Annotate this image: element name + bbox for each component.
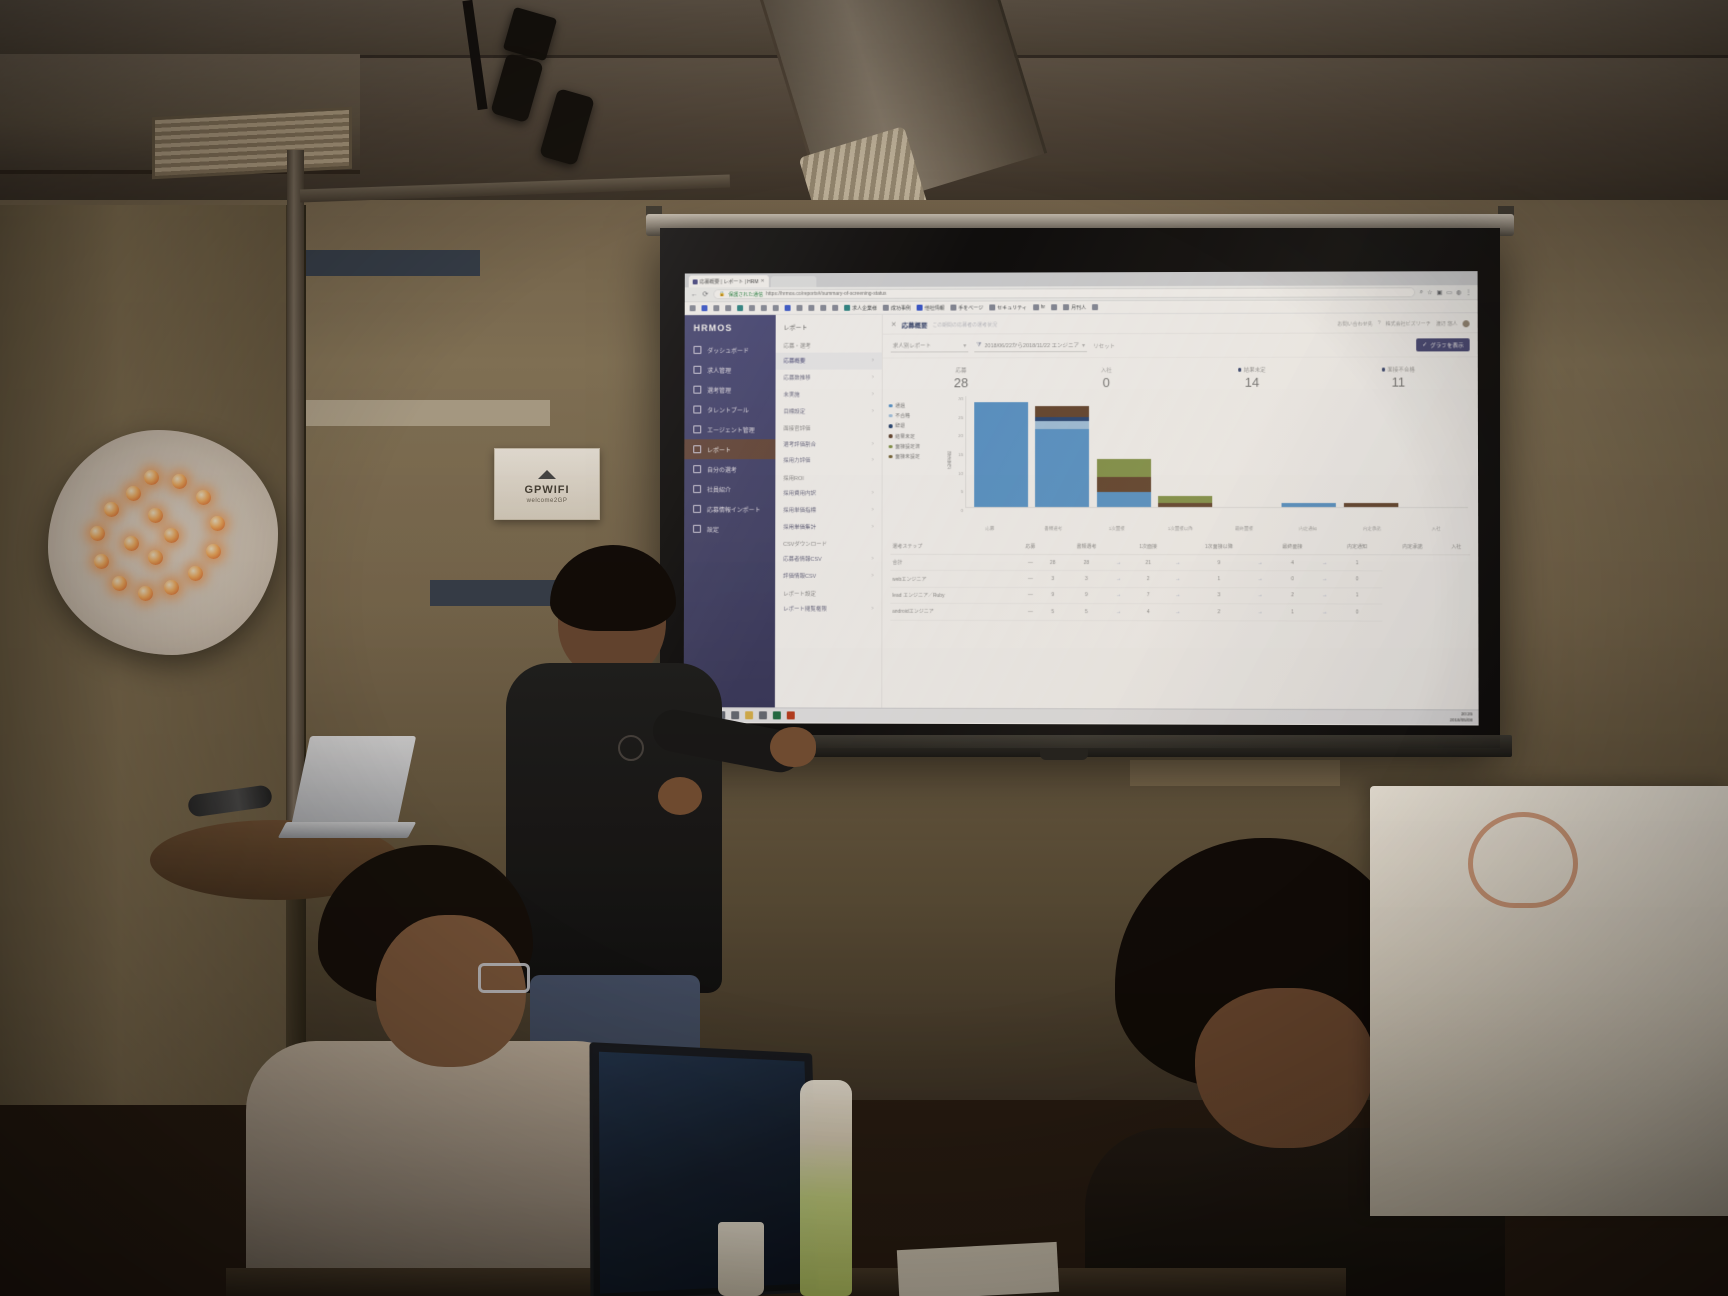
table-cell: — bbox=[1017, 587, 1044, 603]
table-cell: 28 bbox=[1061, 555, 1111, 571]
vertical-pipe bbox=[287, 150, 304, 850]
wall-accent-panel bbox=[300, 400, 550, 426]
sidebar-item-label: ダッシュボード bbox=[707, 345, 749, 354]
bar-column-2[interactable] bbox=[1097, 396, 1151, 507]
table-cell: — bbox=[1017, 604, 1044, 620]
table-cell: 28 bbox=[1044, 554, 1061, 570]
transition-arrow-icon: → bbox=[1171, 571, 1185, 587]
sidebar-item-4[interactable]: エージェント管理 bbox=[684, 419, 775, 439]
profile-icon[interactable]: ◍ bbox=[1456, 289, 1461, 296]
bookmark-item[interactable] bbox=[725, 305, 731, 311]
kpi-label-text: 結果未定 bbox=[1244, 366, 1266, 374]
column-header-2: 書類選考 bbox=[1061, 539, 1111, 555]
subnav-item-4[interactable]: 目標設定› bbox=[775, 403, 881, 420]
user-name: 渡辺 悠人 bbox=[1436, 320, 1458, 327]
kpi-value: 14 bbox=[1179, 375, 1325, 390]
check-icon: ✓ bbox=[1422, 341, 1427, 348]
table-cell: 3 bbox=[1044, 571, 1061, 587]
bookmark-item[interactable] bbox=[808, 305, 814, 311]
chevron-right-icon: › bbox=[872, 490, 874, 496]
table-cell: 2 bbox=[1267, 588, 1318, 605]
kpi-label-text: 応募 bbox=[956, 366, 967, 374]
kpi-dot-icon bbox=[1382, 368, 1386, 372]
security-label: 保護された通信 bbox=[728, 291, 763, 298]
presenter-hand-second bbox=[658, 777, 702, 815]
bookmark-favicon bbox=[785, 305, 791, 311]
back-arrow-icon[interactable]: ← bbox=[691, 291, 698, 298]
subnav-item-10[interactable]: 採用単価指標› bbox=[775, 501, 881, 518]
reset-button[interactable]: リセット bbox=[1093, 342, 1115, 350]
table-header-row: 選考ステップ応募書類選考1次面接1次面接以降最終面接内定通知内定承諾入社 bbox=[890, 539, 1470, 555]
sidebar-item-2[interactable]: 選考管理 bbox=[684, 380, 775, 400]
legend-label: 面接未設定 bbox=[895, 453, 920, 460]
table-cell: 5 bbox=[1061, 604, 1111, 620]
bookmark-favicon bbox=[761, 305, 767, 311]
presenter-laptop-base bbox=[278, 822, 417, 838]
subnav-group-label: 応募・選考 bbox=[776, 337, 882, 353]
address-bar[interactable]: 🔒 保護された通信 https://hrmos.co/reports#/summ… bbox=[713, 287, 1414, 299]
table-cell: 9 bbox=[1185, 555, 1253, 571]
kpi-dot-icon bbox=[1238, 368, 1242, 372]
show-graph-label: グラフを表示 bbox=[1430, 341, 1463, 349]
sidebar-item-0[interactable]: ダッシュボード bbox=[685, 340, 776, 360]
table-cell: — bbox=[1017, 554, 1044, 570]
y-tick: 0 bbox=[961, 508, 964, 513]
bookmark-label: セキュリティ bbox=[997, 304, 1027, 311]
chevron-right-icon: › bbox=[871, 606, 873, 612]
jacket-logo bbox=[618, 735, 644, 761]
avatar[interactable] bbox=[1463, 320, 1470, 327]
table-cell: 3 bbox=[1185, 587, 1253, 604]
legend-item-0[interactable]: 通過 bbox=[889, 402, 947, 409]
chevron-right-icon: › bbox=[872, 375, 874, 381]
browser-tab-title: 応募概要 | レポート | HRM bbox=[700, 278, 759, 285]
bar-column-7[interactable] bbox=[1405, 396, 1460, 508]
chevron-right-icon: › bbox=[872, 358, 874, 364]
transition-arrow-icon: → bbox=[1253, 588, 1267, 604]
neon-marquee-logo bbox=[48, 430, 278, 655]
chevron-down-icon: ▾ bbox=[1082, 342, 1085, 349]
table-cell: 0 bbox=[1332, 571, 1383, 588]
subnav-item-2[interactable]: 応募数推移› bbox=[776, 369, 882, 386]
kpi-value: 11 bbox=[1325, 374, 1472, 389]
kpi-card-0: 応募28 bbox=[889, 366, 1034, 390]
bookmark-item[interactable] bbox=[737, 305, 743, 311]
chevron-right-icon: › bbox=[872, 573, 874, 579]
transition-arrow-icon: → bbox=[1253, 604, 1267, 620]
screening-status-chart: 通過不合格辞退結果未定面接設定済面接未設定 応募者数 302520151050 bbox=[883, 391, 1479, 524]
sidebar-item-8[interactable]: 応募情報インポート bbox=[684, 499, 775, 519]
transition-arrow-icon: → bbox=[1318, 588, 1332, 604]
sidebar-item-label: タレントプール bbox=[707, 405, 749, 414]
subnav-group-label: 面接官評価 bbox=[775, 419, 881, 435]
kpi-value: 28 bbox=[889, 375, 1034, 390]
bookmark-favicon bbox=[749, 305, 755, 311]
sidebar-item-label: 設定 bbox=[707, 524, 719, 533]
clock-date: 2018/05/08 bbox=[1450, 717, 1473, 723]
table-cell: 4 bbox=[1267, 555, 1318, 571]
talent-pool-icon bbox=[693, 406, 701, 414]
bar-segment bbox=[1035, 429, 1089, 507]
row-label: 合計 bbox=[890, 554, 1016, 570]
wifi-ssid-label: GPWIFI bbox=[524, 484, 569, 496]
bookmark-label: hr bbox=[1041, 304, 1045, 310]
sidebar-item-label: 自分の選考 bbox=[707, 465, 737, 474]
period-filter-value: 2018/06/22から2018/11/22 エンジニア bbox=[985, 341, 1079, 349]
subnav-item-label: 採用力評価 bbox=[783, 456, 810, 464]
table-cell: 4 bbox=[1126, 604, 1171, 620]
bookmark-item[interactable] bbox=[713, 305, 719, 311]
lock-icon: 🔒 bbox=[719, 291, 725, 297]
bar-column-5[interactable] bbox=[1282, 396, 1336, 507]
gear-icon bbox=[693, 525, 701, 533]
chevron-down-icon: ▾ bbox=[963, 342, 966, 349]
bookmark-item[interactable]: 他社情報 bbox=[917, 304, 945, 311]
attendee-left-torso bbox=[246, 1041, 646, 1296]
water-bottle bbox=[800, 1080, 852, 1296]
row-label: androidエンジニア bbox=[890, 603, 1016, 620]
bookmark-item[interactable] bbox=[690, 305, 696, 311]
report-type-value: 求人別レポート bbox=[893, 341, 931, 349]
table-cell: 3 bbox=[1061, 571, 1111, 587]
close-icon[interactable]: ✕ bbox=[760, 278, 764, 284]
column-header-8: 入社 bbox=[1442, 539, 1470, 555]
legend-item-2[interactable]: 辞退 bbox=[889, 423, 947, 430]
sidebar-item-3[interactable]: タレントプール bbox=[684, 399, 775, 419]
bar-segment bbox=[1097, 458, 1151, 477]
table-cell: 0 bbox=[1332, 604, 1383, 621]
table-cell: 21 bbox=[1126, 555, 1171, 571]
bookmark-favicon bbox=[989, 304, 995, 310]
bookmark-item[interactable]: 成功事例 bbox=[883, 304, 911, 311]
url-text: https://hrmos.co/reports#/summary-of-scr… bbox=[766, 291, 886, 297]
sidebar-item-5[interactable]: レポート bbox=[684, 439, 775, 459]
table-cell: 1 bbox=[1185, 571, 1253, 587]
subnav-item-label: 応募概要 bbox=[784, 357, 806, 365]
dashboard-icon bbox=[693, 346, 701, 354]
bar-segment bbox=[1097, 477, 1151, 492]
subnav-item-label: 採用単価集計 bbox=[783, 523, 816, 531]
transition-arrow-icon: → bbox=[1112, 555, 1126, 571]
table-cell: 0 bbox=[1267, 571, 1318, 587]
bookmark-item[interactable] bbox=[1092, 304, 1098, 310]
bar-column-1[interactable] bbox=[1035, 396, 1089, 507]
content-header: ✕ 応募概要 この期間の応募者の選考状況 お問い合わせ先 ? 株式会社ビズリーチ… bbox=[883, 313, 1478, 334]
bookmark-favicon bbox=[690, 305, 696, 311]
chevron-right-icon: › bbox=[872, 457, 874, 463]
column-header-7: 内定承諾 bbox=[1387, 539, 1438, 555]
bar-segment bbox=[974, 403, 1028, 507]
bookmark-favicon bbox=[917, 305, 923, 311]
agent-icon bbox=[693, 425, 701, 433]
browser-tab-active[interactable]: 応募概要 | レポート | HRM ✕ bbox=[689, 275, 769, 287]
help-link[interactable]: お問い合わせ先 bbox=[1337, 320, 1372, 327]
bookmark-favicon bbox=[1051, 304, 1057, 310]
bookmark-item[interactable] bbox=[797, 305, 803, 311]
import-icon bbox=[693, 505, 701, 513]
table-cell: 2 bbox=[1185, 604, 1253, 621]
jobs-icon bbox=[693, 366, 701, 374]
bookmark-item[interactable] bbox=[1051, 304, 1057, 310]
attendee-left bbox=[228, 845, 648, 1296]
transition-arrow-icon: → bbox=[1112, 571, 1126, 587]
sidebar-item-9[interactable]: 設定 bbox=[684, 519, 775, 539]
bookmark-item[interactable] bbox=[702, 305, 708, 311]
subnav-item-label: 採用単価指標 bbox=[783, 506, 816, 514]
attendee-right-face bbox=[1195, 988, 1375, 1148]
y-tick: 30 bbox=[958, 396, 963, 401]
table-cell: 9 bbox=[1044, 587, 1061, 603]
wifi-sign: GPWIFI welcome2GP bbox=[494, 448, 600, 520]
legend-swatch bbox=[889, 414, 892, 417]
chevron-right-icon: › bbox=[872, 556, 874, 562]
kpi-label: 面接不合格 bbox=[1325, 365, 1472, 373]
chart-plot-area bbox=[965, 396, 1468, 509]
legend-label: 辞退 bbox=[895, 423, 905, 430]
chevron-right-icon: › bbox=[872, 408, 874, 414]
bookmark-favicon bbox=[1063, 304, 1069, 310]
bookmark-favicon bbox=[1092, 304, 1098, 310]
legend-label: 面接設定済 bbox=[895, 443, 920, 450]
sidebar-item-label: レポート bbox=[707, 445, 731, 454]
subnav-item-3[interactable]: 未実施› bbox=[776, 386, 882, 403]
hrmos-logo: HRMOS bbox=[685, 318, 776, 340]
bar-column-0[interactable] bbox=[974, 396, 1028, 507]
bar-segment bbox=[1282, 503, 1336, 507]
bookmark-favicon bbox=[797, 305, 803, 311]
table-row[interactable]: lead エンジニア／Ruby—99→7→3→2→1 bbox=[890, 587, 1470, 604]
sidebar-item-6[interactable]: 自分の選考 bbox=[684, 459, 775, 479]
subnav-item-6[interactable]: 選考評価割合› bbox=[775, 435, 881, 452]
bookmark-favicon bbox=[773, 305, 779, 311]
transition-arrow-icon: → bbox=[1318, 555, 1332, 571]
legend-swatch bbox=[889, 435, 892, 438]
bookmark-favicon bbox=[832, 305, 838, 311]
kpi-card-3: 面接不合格11 bbox=[1325, 365, 1472, 389]
conference-room-photo: GPWIFI welcome2GP 応募概要 | レポート | HRM ✕ ← … bbox=[0, 0, 1728, 1296]
attendee-laptop-screen bbox=[599, 1052, 811, 1294]
y-tick: 15 bbox=[958, 452, 963, 457]
kpi-label: 応募 bbox=[889, 366, 1034, 374]
legend-swatch bbox=[889, 455, 892, 458]
show-graph-toggle[interactable]: ✓ グラフを表示 bbox=[1416, 338, 1470, 351]
subnav-item-1[interactable]: 応募概要› bbox=[776, 353, 882, 370]
table-row[interactable]: 合計—2828→21→9→4→1 bbox=[890, 554, 1470, 571]
bookmark-favicon bbox=[1033, 304, 1039, 310]
filter-bar: 求人別レポート ▾ ⧩ 2018/06/22から2018/11/22 エンジニア… bbox=[883, 333, 1478, 358]
transition-arrow-icon: → bbox=[1253, 555, 1267, 571]
bar-segment bbox=[1035, 421, 1089, 428]
sidebar-item-label: 社員紹介 bbox=[707, 485, 731, 494]
y-tick: 5 bbox=[961, 489, 964, 494]
legend-item-4[interactable]: 面接設定済 bbox=[889, 443, 947, 450]
kpi-label-text: 入社 bbox=[1101, 366, 1112, 374]
transition-arrow-icon: → bbox=[1318, 571, 1332, 587]
bar-column-3[interactable] bbox=[1158, 396, 1212, 507]
column-header-gap bbox=[1253, 539, 1267, 555]
star-icon[interactable]: ☆ bbox=[1427, 289, 1432, 296]
kpi-card-1: 入社0 bbox=[1034, 366, 1179, 390]
search-icon bbox=[693, 386, 701, 394]
legend-label: 通過 bbox=[895, 402, 905, 409]
table-cell: 1 bbox=[1267, 604, 1318, 621]
wall-accent-panel bbox=[1130, 760, 1340, 786]
subnav-item-label: 目標設定 bbox=[783, 407, 805, 415]
legend-item-1[interactable]: 不合格 bbox=[889, 412, 947, 419]
bar-segment bbox=[1344, 503, 1398, 507]
bookmark-label: 手をべージ bbox=[958, 304, 983, 311]
y-tick: 10 bbox=[958, 471, 963, 476]
chevron-right-icon: › bbox=[872, 507, 874, 513]
bookmark-item[interactable] bbox=[761, 305, 767, 311]
transition-arrow-icon: → bbox=[1112, 604, 1126, 620]
subnav-item-label: 選考評価割合 bbox=[783, 440, 816, 448]
x-axis-labels: 応募書類選考1次面接1次面接以降最終面接内定通知内定承諾入社 bbox=[883, 524, 1479, 532]
table-cell: — bbox=[1017, 571, 1044, 587]
presenter-hair bbox=[550, 545, 676, 631]
subnav-item-7[interactable]: 採用力評価› bbox=[775, 452, 881, 469]
new-tab-button[interactable] bbox=[771, 276, 817, 287]
sidebar-item-7[interactable]: 社員紹介 bbox=[684, 479, 775, 499]
transition-arrow-icon: → bbox=[1318, 604, 1332, 620]
logo-bulb-tube bbox=[86, 470, 236, 615]
transition-arrow-icon: → bbox=[1171, 604, 1185, 620]
bookmark-item[interactable] bbox=[820, 305, 826, 311]
column-header-5: 最終面接 bbox=[1267, 539, 1318, 555]
transition-arrow-icon: → bbox=[1171, 555, 1185, 571]
report-content: ✕ 応募概要 この期間の応募者の選考状況 お問い合わせ先 ? 株式会社ビズリーチ… bbox=[882, 313, 1478, 709]
legend-item-3[interactable]: 結果未定 bbox=[889, 433, 947, 440]
transition-arrow-icon: → bbox=[1112, 587, 1126, 603]
bookmark-item[interactable] bbox=[785, 305, 791, 311]
attendee-left-glasses bbox=[478, 963, 530, 993]
subnav-group-label: 採用ROI bbox=[775, 469, 881, 485]
transition-arrow-icon: → bbox=[1171, 587, 1185, 603]
sidebar-item-label: 求人管理 bbox=[707, 365, 731, 374]
bookmark-item[interactable] bbox=[749, 305, 755, 311]
table-row[interactable]: androidエンジニア—55→4→2→1→0 bbox=[890, 603, 1470, 620]
subnav-item-label: 応募数推移 bbox=[783, 374, 810, 382]
bookmark-label: 成功事例 bbox=[891, 304, 911, 311]
taskbar-clock[interactable]: 20:25 2018/05/08 bbox=[1450, 712, 1473, 723]
wifi-password-label: welcome2GP bbox=[527, 498, 568, 504]
bar-column-4[interactable] bbox=[1220, 396, 1274, 507]
bookmark-favicon bbox=[725, 305, 731, 311]
menu-icon[interactable]: ⋮ bbox=[1466, 289, 1472, 296]
bookmark-favicon bbox=[820, 305, 826, 311]
cast-icon[interactable]: ▭ bbox=[1446, 289, 1452, 296]
presenter-hand bbox=[770, 727, 816, 767]
hrmos-favicon bbox=[693, 279, 698, 284]
bookmark-item[interactable]: 月刊人 bbox=[1063, 304, 1086, 311]
transition-arrow-icon: → bbox=[1253, 571, 1267, 587]
bookmark-favicon bbox=[702, 305, 708, 311]
table-cell: 1 bbox=[1332, 588, 1383, 605]
subnav-item-label: 未実施 bbox=[783, 390, 799, 398]
referral-icon bbox=[693, 485, 701, 493]
subnav-item-label: 採用費用内訳 bbox=[783, 489, 816, 497]
table-cell: 2 bbox=[1126, 571, 1171, 587]
chevron-right-icon: › bbox=[872, 441, 874, 447]
y-axis-ticks: 302520151050 bbox=[953, 396, 965, 524]
bookmark-item[interactable]: 求人企業様 bbox=[844, 304, 877, 311]
y-tick: 20 bbox=[958, 433, 963, 438]
legend-label: 結果未定 bbox=[895, 433, 915, 440]
screening-table: 選考ステップ応募書類選考1次面接1次面接以降最終面接内定通知内定承諾入社 合計—… bbox=[890, 539, 1470, 621]
sidebar-item-label: エージェント管理 bbox=[707, 425, 754, 434]
legend-swatch bbox=[889, 404, 892, 407]
bookmark-item[interactable] bbox=[773, 305, 779, 311]
subnav-item-9[interactable]: 採用費用内訳› bbox=[775, 485, 881, 502]
screening-table-wrap: 選考ステップ応募書類選考1次面接1次面接以降最終面接内定通知内定承諾入社 合計—… bbox=[882, 532, 1478, 621]
column-header-gap bbox=[1112, 539, 1126, 555]
column-header-6: 内定通知 bbox=[1332, 539, 1383, 555]
bar-segment bbox=[1097, 492, 1151, 507]
bookmark-item[interactable] bbox=[832, 305, 838, 311]
search-icon[interactable]: ⌕ bbox=[1420, 289, 1423, 296]
kpi-value: 0 bbox=[1034, 375, 1179, 390]
legend-item-5[interactable]: 面接未設定 bbox=[889, 453, 947, 460]
reload-icon[interactable]: ⟳ bbox=[703, 290, 709, 298]
sidebar-item-label: 応募情報インポート bbox=[707, 504, 761, 513]
attendee-laptop bbox=[589, 1042, 819, 1296]
kpi-label-text: 面接不合格 bbox=[1387, 366, 1415, 374]
bar-segment bbox=[1158, 496, 1212, 503]
page-subtitle: この期間の応募者の選考状況 bbox=[932, 321, 997, 328]
bookmark-favicon bbox=[737, 305, 743, 311]
bookmark-item[interactable]: 手をべージ bbox=[950, 304, 983, 311]
question-icon[interactable]: ? bbox=[1378, 320, 1381, 326]
bookmark-favicon bbox=[713, 305, 719, 311]
projection-screen-pull-tab bbox=[1040, 748, 1088, 760]
bookmark-label: 月刊人 bbox=[1071, 304, 1086, 311]
column-header-3: 1次面接 bbox=[1126, 539, 1171, 555]
table-row[interactable]: webエンジニア—33→2→1→0→0 bbox=[890, 571, 1470, 588]
handout-paper bbox=[897, 1242, 1059, 1296]
bar-segment bbox=[1158, 503, 1212, 507]
my-screening-icon bbox=[693, 465, 701, 473]
report-type-select[interactable]: 求人別レポート ▾ bbox=[891, 340, 969, 352]
subnav-item-11[interactable]: 採用単価集計› bbox=[775, 518, 881, 535]
filter-icon: ⧩ bbox=[976, 342, 981, 349]
kpi-label: 結果未定 bbox=[1179, 366, 1325, 374]
bar-segment bbox=[1035, 406, 1089, 417]
y-tick: 25 bbox=[958, 415, 963, 420]
kpi-card-2: 結果未定14 bbox=[1179, 366, 1325, 390]
wifi-icon bbox=[538, 461, 556, 479]
period-filter-chip[interactable]: ⧩ 2018/06/22から2018/11/22 エンジニア ▾ bbox=[974, 340, 1087, 352]
close-icon[interactable]: ✕ bbox=[891, 321, 897, 329]
bookmark-favicon bbox=[808, 305, 814, 311]
table-cell: 7 bbox=[1126, 587, 1171, 603]
account-name: 株式会社ビズリーチ bbox=[1386, 320, 1431, 327]
column-header-gap bbox=[1318, 539, 1332, 555]
column-header-1: 応募 bbox=[1017, 539, 1044, 555]
report-icon bbox=[693, 445, 701, 453]
bookmark-label: 求人企業様 bbox=[852, 304, 877, 311]
table-cell: 5 bbox=[1044, 604, 1061, 620]
chevron-right-icon: › bbox=[872, 524, 874, 530]
kpi-label: 入社 bbox=[1034, 366, 1179, 374]
bookmark-item[interactable]: セキュリティ bbox=[989, 304, 1027, 311]
sidebar-item-1[interactable]: 求人管理 bbox=[685, 360, 776, 380]
page-title: 応募概要 bbox=[902, 320, 928, 330]
podium-logo bbox=[1468, 812, 1578, 908]
puzzle-icon[interactable]: ▣ bbox=[1437, 289, 1443, 296]
bookmark-item[interactable]: hr bbox=[1033, 304, 1045, 310]
subnav-title: レポート bbox=[776, 319, 882, 337]
bar-column-6[interactable] bbox=[1344, 396, 1399, 507]
